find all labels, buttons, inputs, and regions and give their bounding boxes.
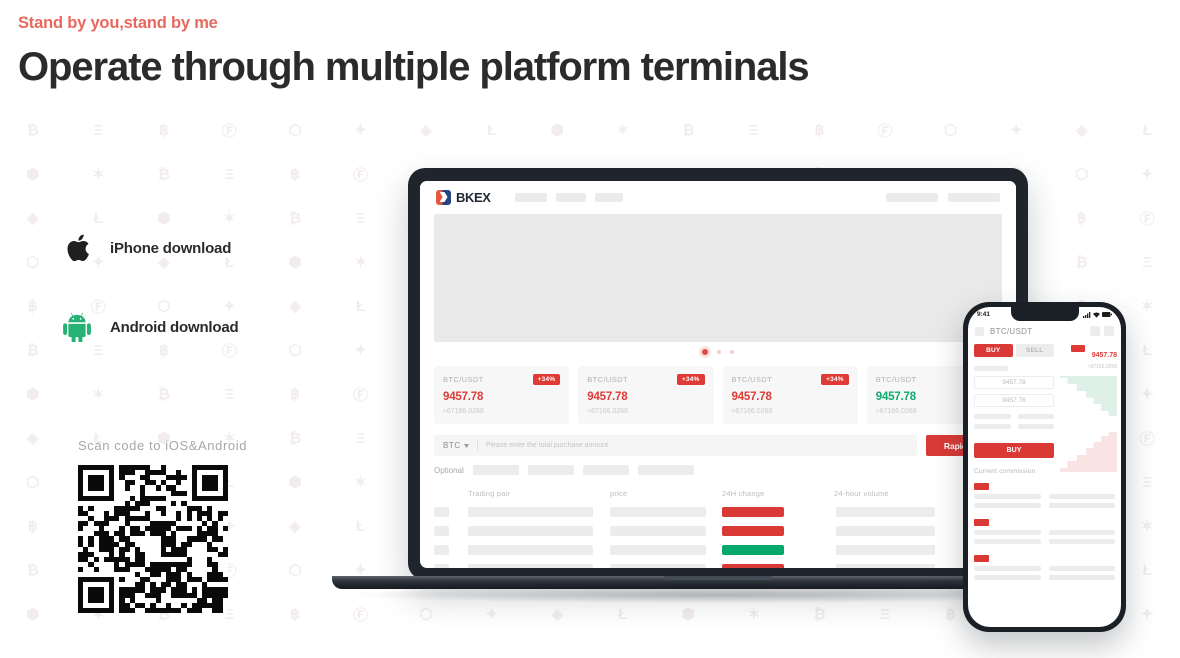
wifi-icon	[1093, 312, 1100, 318]
phone-device: 9:41	[963, 302, 1126, 632]
order-placeholder	[974, 566, 1041, 571]
form-meta-grid	[974, 414, 1054, 434]
tab-sell[interactable]: SELL	[1016, 344, 1055, 357]
row-checkbox[interactable]	[434, 545, 449, 555]
meta-placeholder	[974, 424, 1011, 429]
phone-order-form: BUY SELL 9457.78 9457.78	[968, 344, 1060, 477]
nav-item[interactable]	[515, 193, 547, 202]
laptop-lid: BKEX	[408, 168, 1028, 580]
price-card-price: 9457.78	[587, 391, 704, 403]
brand-name: BKEX	[456, 190, 491, 205]
order-placeholder	[1049, 539, 1116, 544]
carousel-dot-2[interactable]	[717, 350, 721, 354]
meta-placeholder	[974, 414, 1011, 419]
table-row[interactable]	[434, 545, 1002, 555]
order-placeholder	[1049, 566, 1116, 571]
row-price	[610, 545, 706, 555]
form-meta-col	[974, 414, 1011, 434]
order-side-badge	[974, 519, 989, 526]
price-card-badge: +34%	[533, 374, 561, 385]
market-table: Trading pair price 24H change 24-hour vo…	[434, 489, 1002, 568]
purchase-amount-input[interactable]: BTC Please enter the total purchase amou…	[434, 435, 917, 456]
order-lines	[974, 530, 1115, 548]
optional-chip[interactable]	[638, 465, 694, 475]
price-card-badge: +34%	[677, 374, 705, 385]
order-placeholder	[974, 539, 1041, 544]
price-card-pair: BTC/USDT	[443, 375, 484, 384]
optional-chip[interactable]	[583, 465, 629, 475]
laptop-screen: BKEX	[420, 181, 1016, 568]
phone-price-block: 9457.78 ≈67166.0268	[1088, 344, 1117, 370]
price-card-pair: BTC/USDT	[587, 375, 628, 384]
phone-last-price: 9457.78	[1092, 352, 1117, 359]
divider	[477, 441, 478, 450]
bkex-logo-icon	[436, 190, 451, 205]
order-lines	[974, 494, 1115, 512]
row-24h-change	[722, 564, 784, 568]
row-checkbox[interactable]	[434, 564, 449, 568]
row-trading-pair	[468, 564, 593, 568]
price-card-price: 9457.78	[443, 391, 560, 403]
tab-buy[interactable]: BUY	[974, 344, 1013, 357]
nav-item[interactable]	[556, 193, 586, 202]
hero-text-block: Stand by you,stand by me Operate through…	[18, 14, 448, 89]
row-24h-volume	[836, 564, 935, 568]
price-card-pair: BTC/USDT	[876, 375, 917, 384]
optional-filters-row: Optional	[434, 465, 1002, 475]
phone-screen: 9:41	[968, 307, 1121, 627]
row-24h-volume	[836, 507, 935, 517]
price-card[interactable]: BTC/USDT +34% 9457.78 ≈67166.0268	[723, 366, 858, 424]
phone-price-row: 9457.78 ≈67166.0268	[1060, 344, 1117, 370]
price-card[interactable]: BTC/USDT +34% 9457.78 ≈67166.0268	[578, 366, 713, 424]
brand-logo[interactable]: BKEX	[436, 190, 491, 205]
order-side-badge	[974, 555, 989, 562]
price-direction-chip	[1071, 345, 1085, 352]
row-24h-volume	[836, 526, 935, 536]
hero-carousel-banner[interactable]	[434, 214, 1002, 342]
table-row[interactable]	[434, 526, 1002, 536]
amount-field[interactable]: 9457.78	[974, 394, 1054, 407]
list-item[interactable]	[974, 555, 1115, 584]
price-card-subprice: ≈67166.0268	[732, 408, 849, 415]
back-icon[interactable]	[975, 327, 984, 336]
phone-trade-body: BUY SELL 9457.78 9457.78	[968, 340, 1121, 477]
order-book-depth-chart	[1060, 376, 1117, 472]
row-24h-change	[722, 507, 784, 517]
price-card-price: 9457.78	[732, 391, 849, 403]
order-col-right	[1049, 494, 1116, 512]
nav-action[interactable]	[948, 193, 1000, 202]
phone-page-title: BTC/USDT	[990, 327, 1032, 336]
purchase-amount-placeholder: Please enter the total purchase amount	[486, 442, 608, 449]
hero-eyebrow: Stand by you,stand by me	[18, 14, 448, 33]
row-24h-change	[722, 526, 784, 536]
nav-action[interactable]	[886, 193, 938, 202]
qr-code-image	[78, 465, 228, 613]
row-trading-pair	[468, 545, 593, 555]
optional-label: Optional	[434, 466, 464, 475]
order-placeholder	[974, 494, 1041, 499]
optional-chip[interactable]	[473, 465, 519, 475]
price-ticker-cards: BTC/USDT +34% 9457.78 ≈67166.0268 BTC/US…	[434, 366, 1002, 424]
commission-order-list	[968, 477, 1121, 584]
carousel-dots[interactable]	[702, 349, 734, 355]
row-24h-volume	[836, 545, 935, 555]
nav-item[interactable]	[595, 193, 623, 202]
price-card-pair: BTC/USDT	[732, 375, 773, 384]
order-col-left	[974, 566, 1041, 584]
site-topbar: BKEX	[420, 181, 1016, 213]
page-title: Operate through multiple platform termin…	[18, 45, 448, 89]
order-col-left	[974, 494, 1041, 512]
meta-placeholder	[1018, 424, 1055, 429]
column-header-trading-pair[interactable]: Trading pair	[468, 489, 610, 498]
column-header-price[interactable]: price	[610, 489, 722, 498]
row-trading-pair	[468, 507, 593, 517]
phone-depth-panel: 9457.78 ≈67166.0268	[1060, 344, 1121, 477]
order-placeholder	[1049, 503, 1116, 508]
meta-placeholder	[1018, 414, 1055, 419]
price-card-subprice: ≈67166.0268	[443, 408, 560, 415]
row-price	[610, 507, 706, 517]
row-price	[610, 564, 706, 568]
row-trading-pair	[468, 526, 593, 536]
market-table-header: Trading pair price 24H change 24-hour vo…	[434, 489, 1002, 498]
buy-sell-tabs[interactable]: BUY SELL	[974, 344, 1054, 357]
price-field[interactable]: 9457.78	[974, 376, 1054, 389]
account-nav[interactable]	[886, 193, 1000, 202]
price-card-badge: +34%	[821, 374, 849, 385]
phone-header: BTC/USDT	[968, 322, 1121, 340]
phone-price-subtext: ≈67166.0268	[1088, 364, 1117, 370]
order-placeholder	[1049, 494, 1116, 499]
order-col-left	[974, 530, 1041, 548]
carousel-dot-1[interactable]	[702, 349, 708, 355]
row-24h-change	[722, 545, 784, 555]
order-placeholder	[974, 530, 1041, 535]
current-commission-label: Current commission	[974, 468, 1054, 475]
laptop-device: BKEX	[408, 168, 1028, 580]
status-icons	[1083, 312, 1112, 318]
phone-header-actions[interactable]	[1090, 326, 1114, 336]
row-checkbox[interactable]	[434, 507, 449, 517]
battery-icon	[1102, 312, 1112, 317]
coin-select[interactable]: BTC	[443, 441, 469, 450]
carousel-dot-3[interactable]	[730, 350, 734, 354]
order-col-right	[1049, 566, 1116, 584]
header-action-icon[interactable]	[1090, 326, 1100, 336]
table-row[interactable]	[434, 507, 1002, 517]
form-meta-col	[1018, 414, 1055, 434]
chevron-down-icon	[464, 444, 469, 448]
status-time: 9:41	[977, 311, 990, 318]
row-checkbox[interactable]	[434, 526, 449, 536]
list-item[interactable]	[974, 519, 1115, 548]
qr-caption: Scan code to iOS&Android	[78, 438, 247, 453]
order-placeholder	[1049, 575, 1116, 580]
form-label-placeholder	[974, 366, 1008, 371]
order-side-badge	[974, 483, 989, 490]
table-row[interactable]	[434, 564, 1002, 568]
list-item[interactable]	[974, 483, 1115, 512]
row-price	[610, 526, 706, 536]
order-placeholder	[1049, 530, 1116, 535]
price-card-subprice: ≈67166.0268	[587, 408, 704, 415]
order-placeholder	[974, 575, 1041, 580]
primary-nav[interactable]	[515, 193, 623, 202]
cellular-signal-icon	[1083, 312, 1091, 318]
coin-select-value: BTC	[443, 441, 461, 450]
phone-notch	[1011, 307, 1079, 321]
qr-download-block: Scan code to iOS&Android	[78, 438, 247, 613]
order-lines	[974, 566, 1115, 584]
price-card[interactable]: BTC/USDT +34% 9457.78 ≈67166.0268	[434, 366, 569, 424]
optional-chip[interactable]	[528, 465, 574, 475]
order-placeholder	[974, 503, 1041, 508]
quick-buy-bar: BTC Please enter the total purchase amou…	[434, 435, 1002, 456]
header-action-icon[interactable]	[1104, 326, 1114, 336]
column-header-24h-change[interactable]: 24H change	[722, 489, 834, 498]
phone-buy-button[interactable]: BUY	[974, 443, 1054, 458]
order-col-right	[1049, 530, 1116, 548]
